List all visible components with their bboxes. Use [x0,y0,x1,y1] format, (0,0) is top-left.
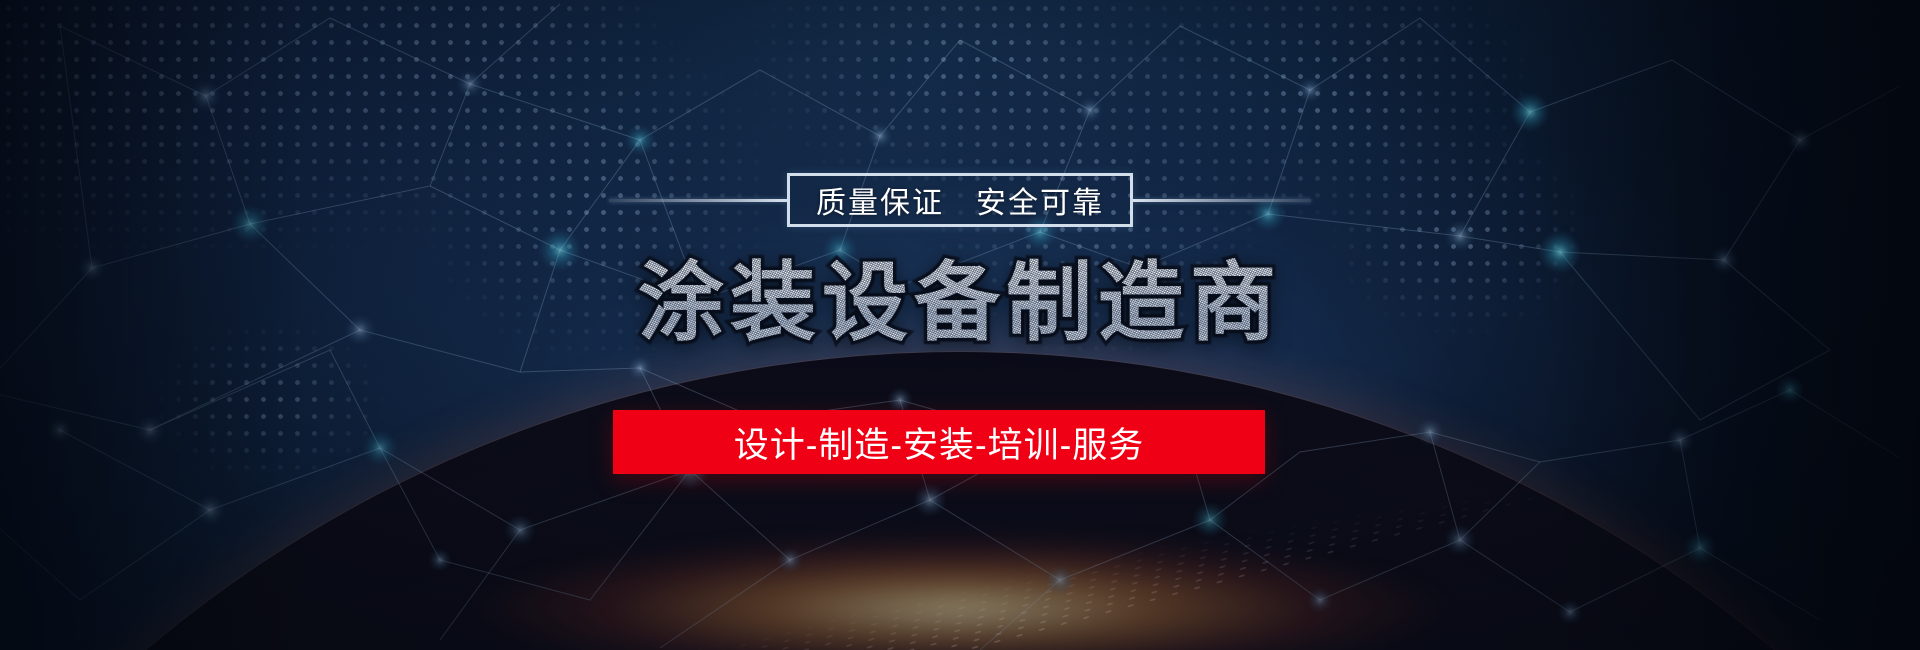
service-bar: 设计-制造-安装-培训-服务 [613,410,1265,474]
banner-content: 质量保证 安全可靠 涂装设备制造商 涂装设备制造商 设计-制造-安装-培训-服务 [0,0,1920,650]
tagline-box: 质量保证 安全可靠 [787,173,1133,227]
hero-banner: 质量保证 安全可靠 涂装设备制造商 涂装设备制造商 设计-制造-安装-培训-服务 [0,0,1920,650]
service-bar-text: 设计-制造-安装-培训-服务 [734,417,1145,468]
tagline-rule-left [609,199,787,202]
tagline-text: 质量保证 安全可靠 [816,178,1104,222]
page-title: 涂装设备制造商 [0,258,1920,348]
tagline-rule-right [1133,199,1311,202]
tagline-row: 质量保证 安全可靠 [0,173,1920,227]
